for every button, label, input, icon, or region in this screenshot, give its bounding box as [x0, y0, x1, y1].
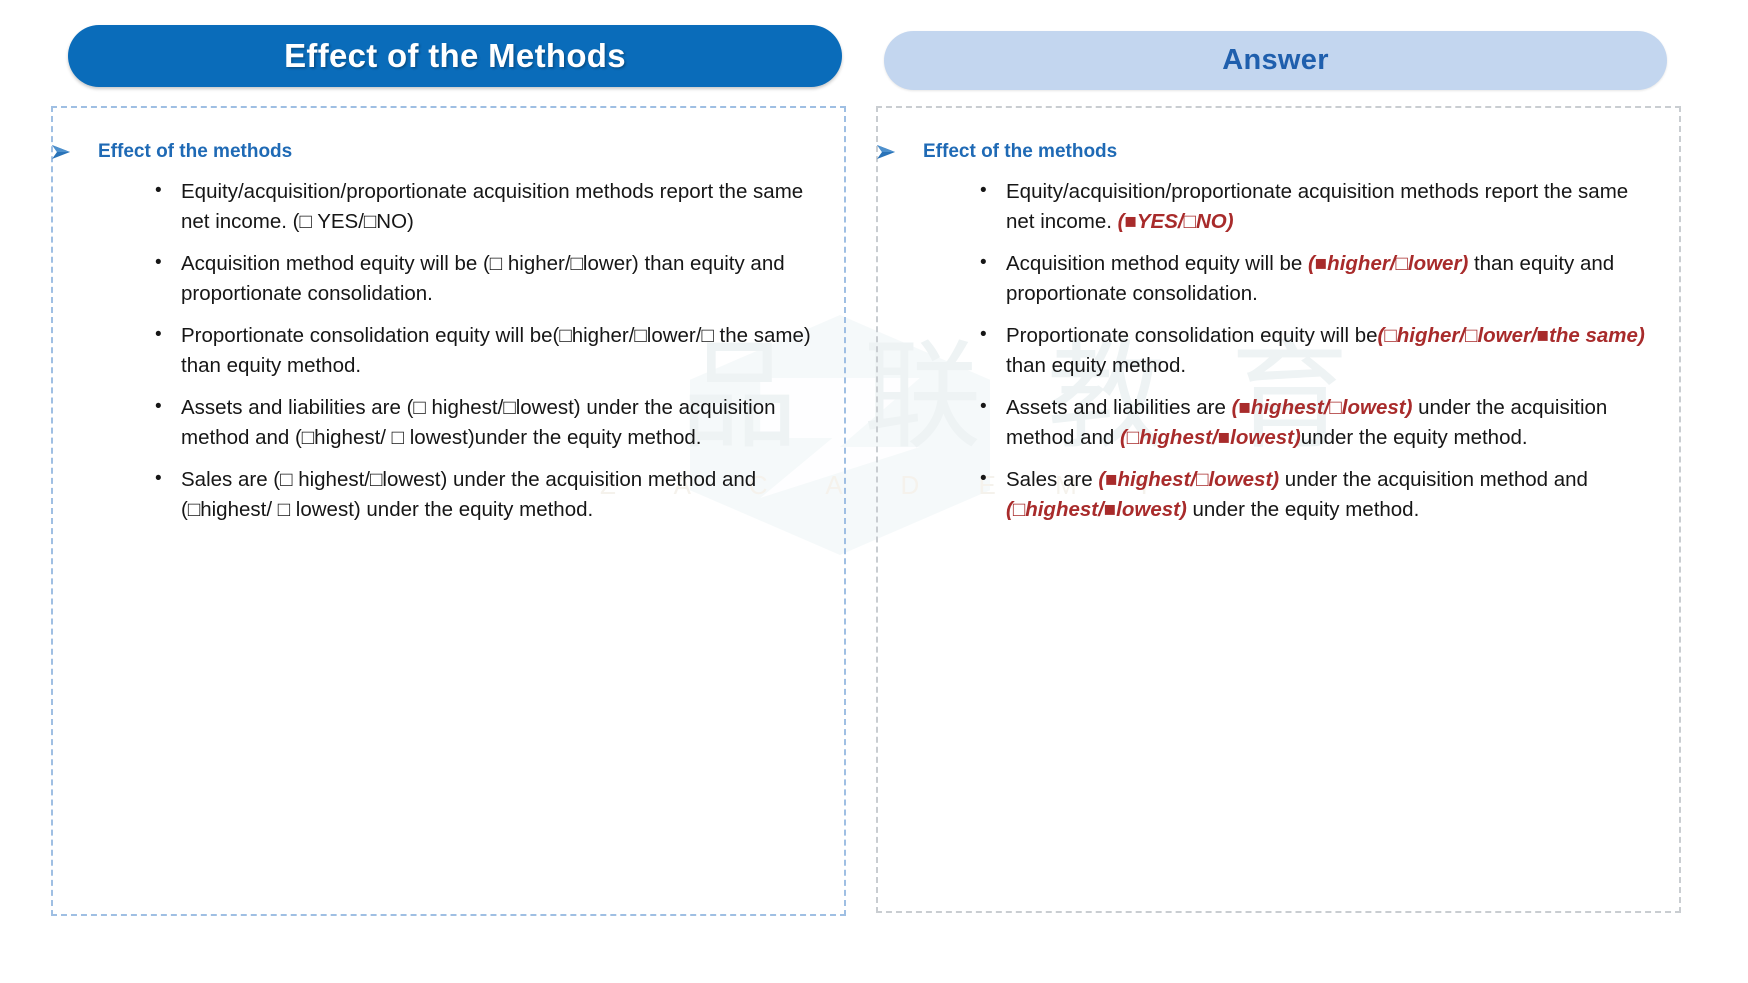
answer-highlight: (□highest/■lowest) — [1120, 426, 1301, 449]
answer-highlight: (□highest/■lowest) — [1006, 498, 1187, 521]
right-bullet-list: Equity/acquisition/proportionate acquisi… — [878, 177, 1679, 524]
left-bullet-item: Equity/acquisition/proportionate acquisi… — [181, 177, 816, 236]
bullet-text: Proportionate consolidation equity will … — [1006, 324, 1378, 347]
slide-root: Effect of the Methods Answer Effect of t… — [0, 0, 1748, 983]
right-bullet-item: Acquisition method equity will be (■high… — [1006, 249, 1661, 308]
left-bullet-item: Sales are (□ highest/□lowest) under the … — [181, 465, 816, 524]
left-bullet-item: Assets and liabilities are (□ highest/□l… — [181, 393, 816, 452]
right-panel-title: Answer — [1222, 44, 1329, 77]
left-panel-title: Effect of the Methods — [284, 37, 626, 75]
bullet-text: under the equity method. — [1187, 498, 1420, 521]
right-bullet-item: Equity/acquisition/proportionate acquisi… — [1006, 177, 1661, 236]
bullet-text: Assets and liabilities are — [1006, 396, 1232, 419]
bullet-text: under the acquisition method and — [1279, 468, 1588, 491]
right-panel-title-banner: Answer — [884, 31, 1667, 90]
left-bullet-list: Equity/acquisition/proportionate acquisi… — [53, 177, 844, 524]
right-bullet-item: Proportionate consolidation equity will … — [1006, 321, 1661, 380]
answer-highlight: (■YES/□NO) — [1118, 210, 1234, 233]
bullet-text: Acquisition method equity will be — [1006, 252, 1308, 275]
answer-highlight: (□higher/□lower/■the same) — [1378, 324, 1645, 347]
bullet-text: Sales are — [1006, 468, 1098, 491]
left-section-heading: Effect of the methods — [98, 141, 844, 163]
bullet-text: under the equity method. — [1301, 426, 1528, 449]
right-section-heading-label: Effect of the methods — [923, 141, 1117, 162]
chevron-right-icon — [50, 142, 72, 162]
right-panel-body: Effect of the methods Equity/acquisition… — [876, 106, 1681, 913]
bullet-text: Equity/acquisition/proportionate acquisi… — [1006, 180, 1628, 233]
left-panel-body: Effect of the methods Equity/acquisition… — [51, 106, 846, 916]
bullet-text: than equity method. — [1006, 354, 1186, 377]
chevron-right-icon — [875, 142, 897, 162]
answer-highlight: (■highest/□lowest) — [1232, 396, 1413, 419]
left-panel-title-banner: Effect of the Methods — [68, 25, 842, 87]
left-bullet-item: Proportionate consolidation equity will … — [181, 321, 816, 380]
answer-highlight: (■higher/□lower) — [1308, 252, 1468, 275]
right-section-heading: Effect of the methods — [923, 141, 1679, 163]
left-bullet-item: Acquisition method equity will be (□ hig… — [181, 249, 816, 308]
answer-highlight: (■highest/□lowest) — [1098, 468, 1279, 491]
right-bullet-item: Assets and liabilities are (■highest/□lo… — [1006, 393, 1661, 452]
left-section-heading-label: Effect of the methods — [98, 141, 292, 162]
right-bullet-item: Sales are (■highest/□lowest) under the a… — [1006, 465, 1661, 524]
